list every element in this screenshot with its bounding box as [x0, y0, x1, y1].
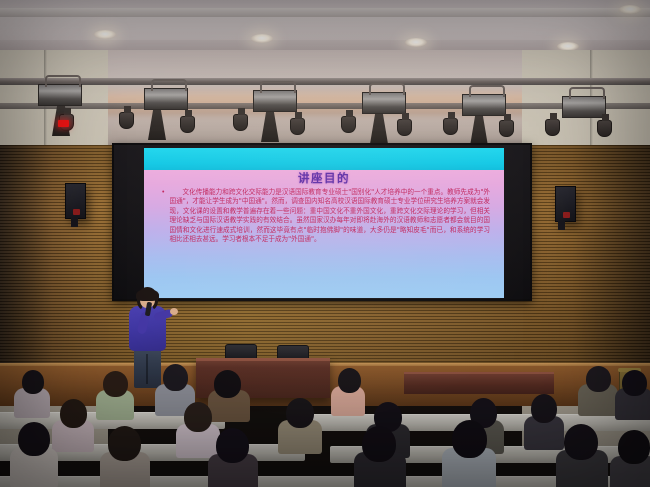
- presentation-slide: 讲座目的 • 文化传播能力和跨文化交际能力是汉语国际教育专业硕士"国别化"人才培…: [144, 148, 504, 298]
- stage-lamp-box: [462, 94, 506, 116]
- lighting-truss: [0, 78, 650, 85]
- audience-head: [531, 394, 557, 423]
- speaker-mount-right: [558, 221, 565, 230]
- ceiling-downlight: [94, 30, 116, 39]
- slide-body: • 文化传播能力和跨文化交际能力是汉语国际教育专业硕士"国别化"人才培养中的一个…: [162, 188, 490, 244]
- screen-bezel-right: [500, 145, 530, 299]
- ceiling-rail: [0, 8, 650, 17]
- slide-body-text: 文化传播能力和跨文化交际能力是汉语国际教育专业硕士"国别化"人才培养中的一个重点…: [169, 188, 490, 244]
- audience-head: [586, 366, 611, 392]
- stage-lamp-box: [362, 92, 406, 114]
- stage-spotlight: [119, 112, 134, 129]
- audience-head: [18, 422, 50, 456]
- stage-spotlight: [180, 116, 195, 133]
- stage-spotlight: [499, 120, 514, 137]
- stage-lamp-box: [144, 88, 188, 110]
- stage-spotlight: [545, 119, 560, 136]
- stage-spotlight: [233, 114, 248, 131]
- audience-head: [184, 402, 212, 432]
- audience-head: [60, 399, 87, 428]
- audience-head: [216, 428, 249, 463]
- audience-head: [564, 424, 598, 460]
- stage-spotlight: [397, 119, 412, 136]
- wall-speaker-left: [65, 183, 86, 219]
- audience-head: [108, 426, 141, 461]
- stage-lamp-box: [38, 84, 82, 106]
- audience-head: [452, 420, 487, 458]
- slide-bullet-marker: •: [162, 188, 164, 244]
- ceiling-soffit: [0, 40, 650, 50]
- audience-head: [163, 364, 188, 391]
- stage-lamp-box: [253, 90, 297, 112]
- stage-spotlight: [443, 118, 458, 135]
- slide-header-band: [144, 148, 504, 170]
- stage-spotlight: [597, 120, 612, 137]
- audience-head: [338, 368, 361, 393]
- speaker-mount-left: [71, 218, 78, 227]
- lecture-hall-photo: 讲座目的 • 文化传播能力和跨文化交际能力是汉语国际教育专业硕士"国别化"人才培…: [0, 0, 650, 487]
- stage-spotlight: [290, 118, 305, 135]
- presenter-right-hand: [170, 308, 178, 315]
- wall-speaker-right: [555, 186, 576, 222]
- status-led-indicator: [58, 120, 69, 127]
- audience-head: [103, 371, 128, 397]
- ceiling-downlight: [619, 5, 641, 14]
- audience-head: [286, 398, 314, 428]
- bench-row[interactable]: [0, 476, 650, 487]
- slide-title: 讲座目的: [144, 170, 504, 186]
- ceiling-downlight: [251, 34, 273, 43]
- audience-head: [22, 370, 44, 394]
- lighting-truss-secondary: [0, 103, 650, 109]
- audience-head: [214, 370, 241, 398]
- stage-spotlight: [341, 116, 356, 133]
- presenter-hair-top: [136, 289, 159, 301]
- audience-area: [0, 372, 650, 487]
- audience-head: [362, 426, 396, 462]
- audience-head: [618, 430, 650, 464]
- screen-bezel-left: [114, 145, 144, 299]
- ceiling-downlight: [405, 38, 427, 47]
- audience-head: [622, 370, 647, 396]
- stage-lamp-box: [562, 96, 606, 118]
- projection-screen[interactable]: 讲座目的 • 文化传播能力和跨文化交际能力是汉语国际教育专业硕士"国别化"人才培…: [112, 143, 532, 301]
